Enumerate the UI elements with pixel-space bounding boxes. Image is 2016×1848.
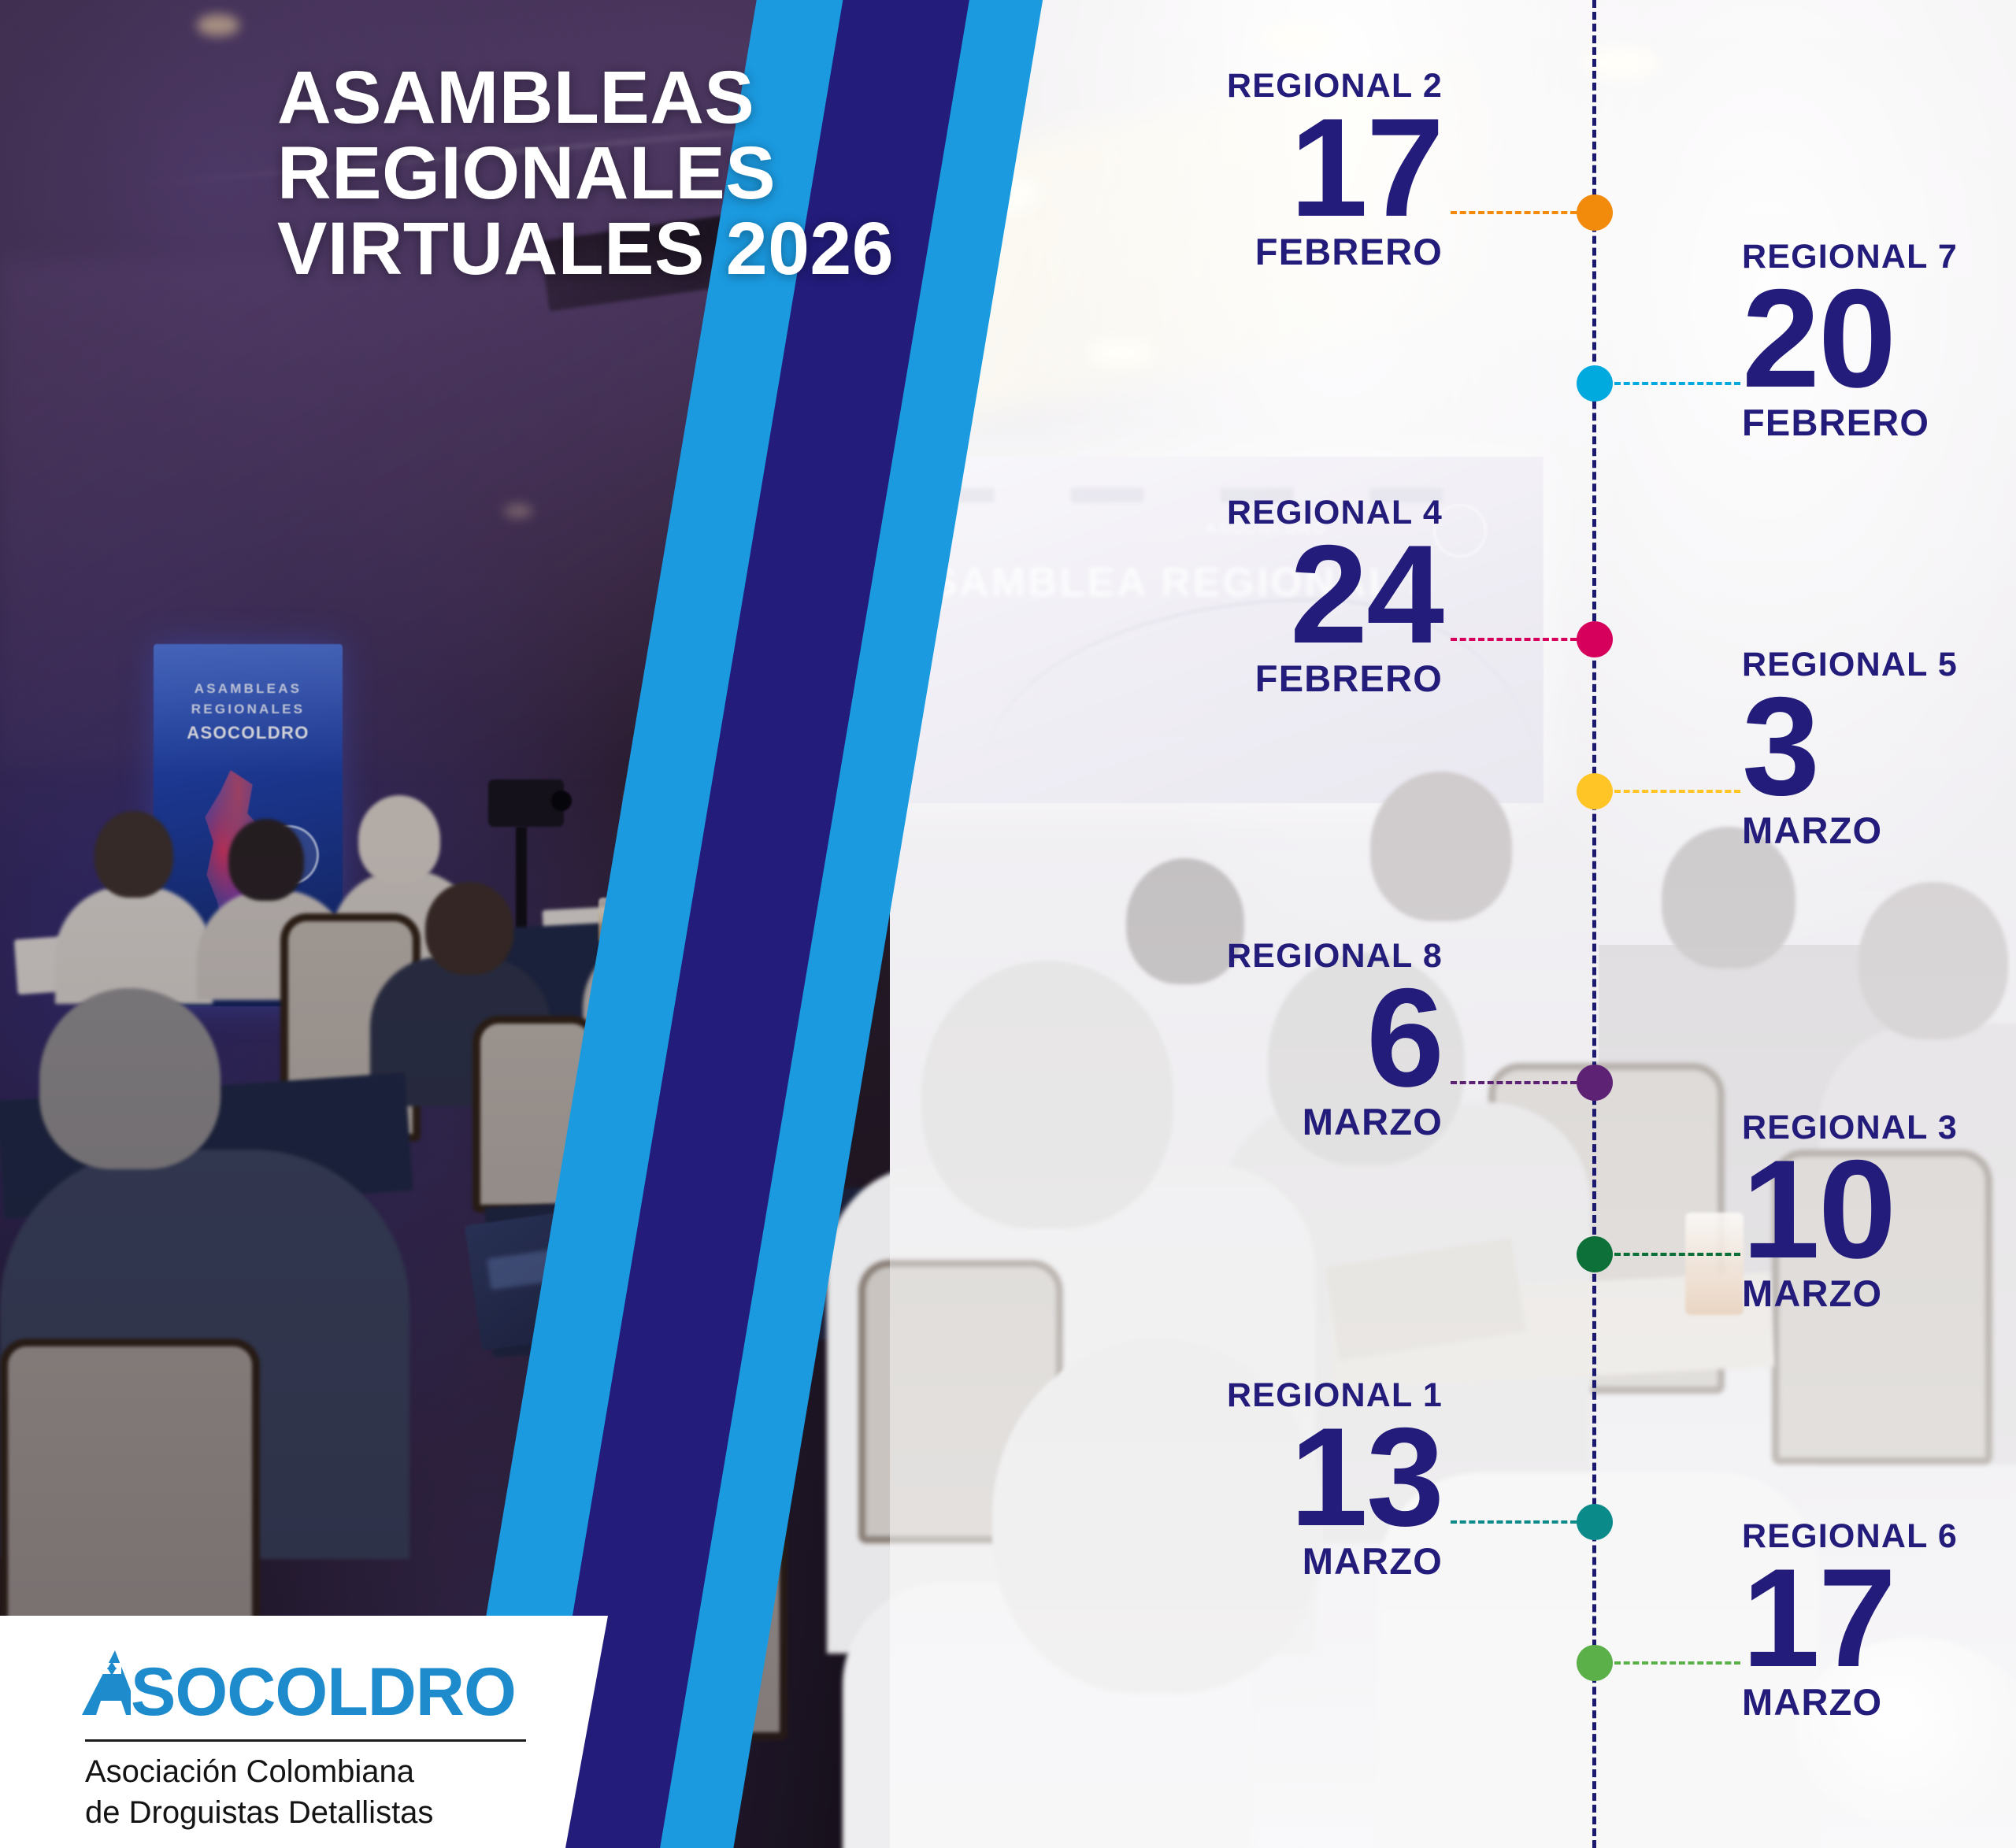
timeline-entry-day: 20 [1742,276,2016,401]
timeline-node-7[interactable] [1577,1504,1613,1540]
timeline-entry-month: FEBRERO [1002,230,1443,273]
title-line-2: REGIONALES [277,135,899,211]
logo-tagline-line-1: Asociación Colombiana [85,1751,539,1792]
asocoldro-a-icon [82,1642,131,1715]
poster-canvas: ASAMBLEAS REGIONALES ASOCOLDRO [0,0,2016,1848]
timeline-connector-1 [1451,211,1577,214]
timeline-connector-8 [1614,1661,1740,1665]
timeline-entry-day: 6 [1002,976,1443,1100]
timeline-entry-day: 17 [1742,1556,2016,1680]
timeline-entry-day: 13 [1002,1415,1443,1539]
logo-divider [85,1739,526,1742]
logo-tagline: Asociación Colombiana de Droguistas Deta… [85,1751,539,1833]
timeline-connector-4 [1614,790,1740,793]
logo-tagline-line-2: de Droguistas Detallistas [85,1792,539,1833]
timeline-entry-month: FEBRERO [1742,401,2016,444]
timeline-node-3[interactable] [1577,621,1613,657]
timeline-entry-day: 24 [1002,532,1443,657]
timeline-entry-4[interactable]: REGIONAL 53MARZO [1742,646,2016,852]
title-line-1: ASAMBLEAS [277,60,899,135]
timeline-axis [1592,0,1596,1848]
timeline-entry-2[interactable]: REGIONAL 720FEBRERO [1742,238,2016,444]
asocoldro-wordmark-rest: SOCOLDRO [131,1656,516,1728]
timeline-entry-month: MARZO [1742,809,2016,852]
timeline-node-2[interactable] [1577,365,1613,402]
timeline-entry-6[interactable]: REGIONAL 310MARZO [1742,1109,2016,1315]
timeline-entry-month: MARZO [1742,1680,2016,1724]
timeline-entry-day: 10 [1742,1147,2016,1272]
timeline-entry-month: FEBRERO [1002,657,1443,700]
timeline-entry-1[interactable]: REGIONAL 217FEBRERO [1002,67,1443,273]
title-line-3: VIRTUALES 2026 [277,211,899,287]
timeline-connector-6 [1614,1253,1740,1256]
timeline-connector-7 [1451,1520,1577,1524]
timeline-node-8[interactable] [1577,1645,1613,1681]
timeline-entry-month: MARZO [1002,1539,1443,1583]
timeline-connector-5 [1451,1081,1577,1084]
timeline-node-6[interactable] [1577,1236,1613,1272]
timeline-node-4[interactable] [1577,773,1613,809]
timeline-entry-7[interactable]: REGIONAL 113MARZO [1002,1376,1443,1583]
poster-title: ASAMBLEAS REGIONALES VIRTUALES 2026 [277,60,899,287]
timeline-node-1[interactable] [1577,194,1613,231]
timeline-connector-3 [1451,638,1577,641]
timeline-entry-month: MARZO [1742,1272,2016,1315]
timeline-entry-day: 3 [1742,684,2016,809]
timeline-connector-2 [1614,382,1740,385]
timeline-node-5[interactable] [1577,1065,1613,1101]
timeline-entry-5[interactable]: REGIONAL 86MARZO [1002,937,1443,1143]
timeline-entry-3[interactable]: REGIONAL 424FEBRERO [1002,494,1443,700]
timeline-entry-day: 17 [1002,106,1443,230]
timeline-entry-month: MARZO [1002,1100,1443,1143]
asocoldro-wordmark: SOCOLDRO [82,1642,539,1728]
timeline-entry-8[interactable]: REGIONAL 617MARZO [1742,1517,2016,1724]
asocoldro-logo-card: SOCOLDRO Asociación Colombiana de Drogui… [0,1616,608,1848]
